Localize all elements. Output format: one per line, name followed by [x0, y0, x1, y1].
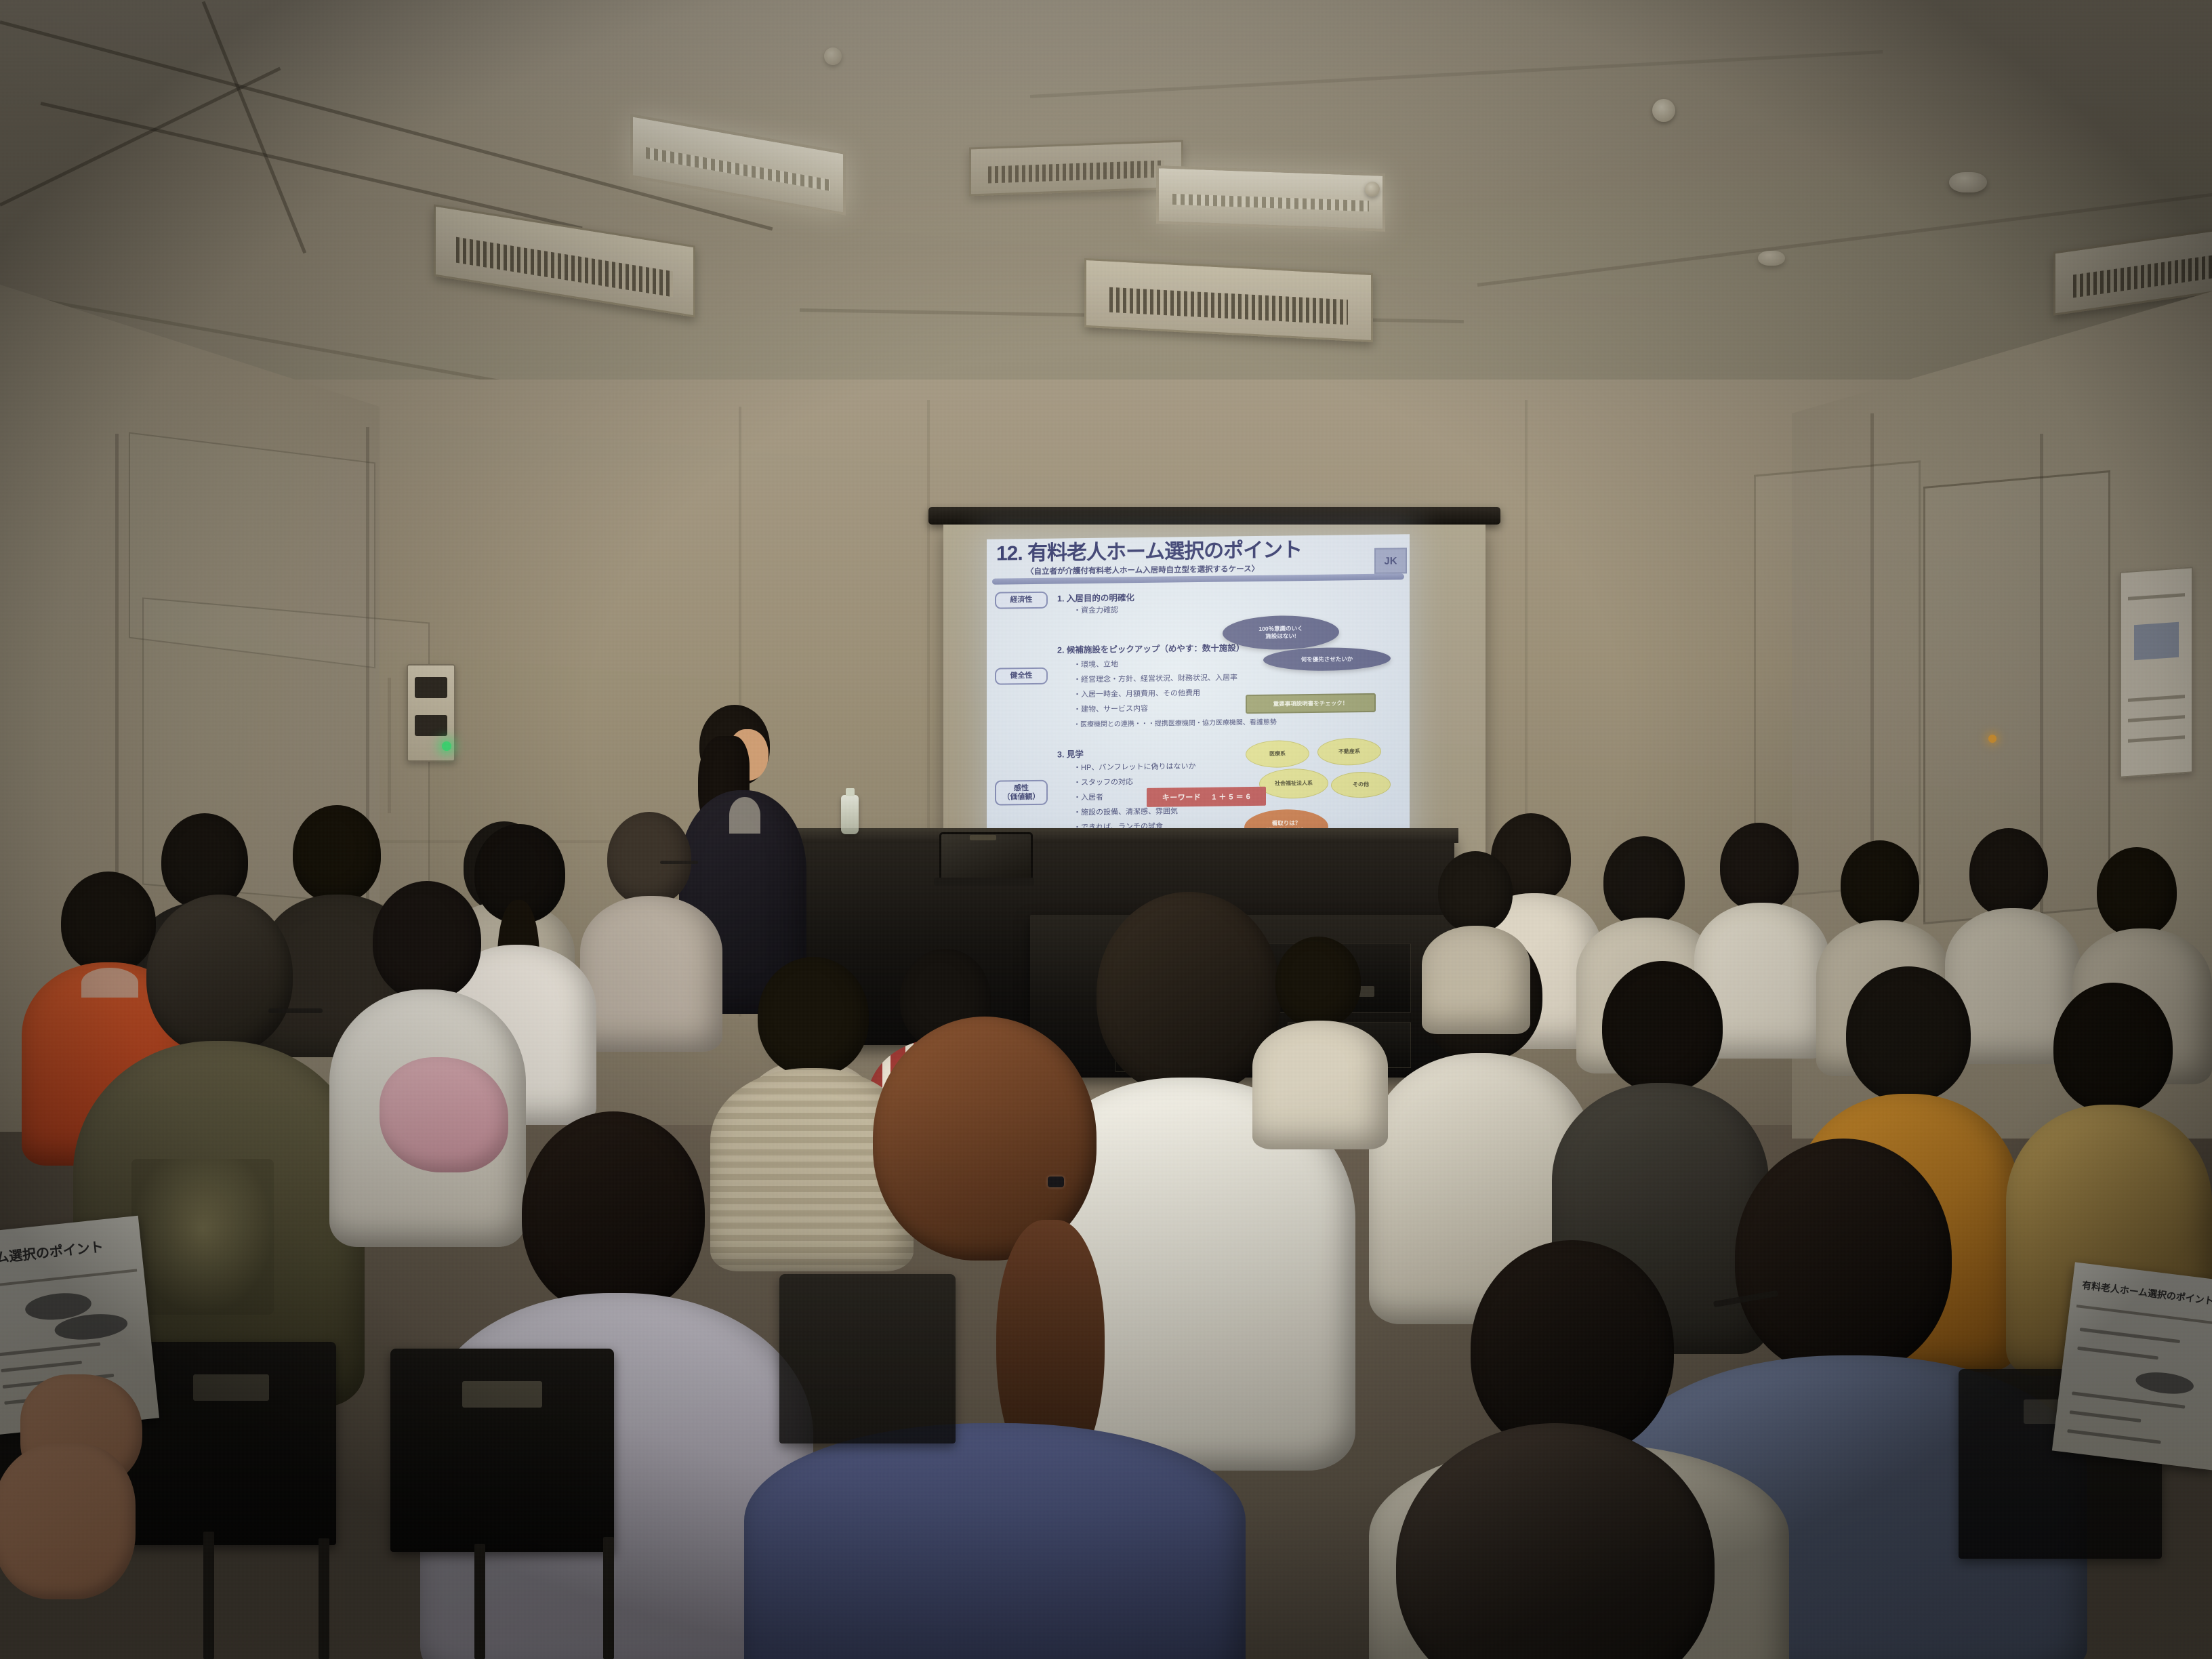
- slide-section-3-bullet-3: ・入居者: [1073, 792, 1103, 803]
- slide-callout-keyword-band: キーワード 1 ＋ 5 ＝ 6: [1147, 787, 1266, 807]
- laptop-webcam-icon: [970, 835, 997, 840]
- ac-vent-icon: [969, 140, 1183, 196]
- section-number: 3.: [1057, 750, 1064, 759]
- head: [146, 895, 293, 1054]
- panel-light-icon: [1156, 165, 1385, 232]
- chair-leg: [203, 1532, 214, 1659]
- control-switch[interactable]: [415, 715, 448, 736]
- water-bottle[interactable]: [841, 795, 859, 834]
- glasses-icon: [268, 1008, 323, 1013]
- head: [1275, 937, 1361, 1027]
- keyword-label: キーワード: [1162, 792, 1202, 803]
- chair-handle: [462, 1381, 543, 1408]
- status-led-green-icon: [442, 741, 451, 751]
- wall-control-panel[interactable]: [407, 664, 455, 762]
- slide-section-2-bullet-1: ・環境、立地: [1073, 658, 1118, 670]
- control-switch[interactable]: [415, 677, 448, 698]
- slide-callout-navy-1: 100％意識のいく 施設はない!: [1223, 615, 1339, 650]
- head: [1438, 851, 1513, 933]
- callout-line1: 100％意識のいく: [1258, 625, 1303, 632]
- tshirt-graphic: [131, 1159, 274, 1315]
- handout-right[interactable]: 有料老人ホーム選択のポイント: [2052, 1262, 2212, 1470]
- slide-callout-yellow-4: その他: [1331, 772, 1391, 798]
- folding-chair[interactable]: [390, 1349, 614, 1552]
- audience-member: [580, 812, 722, 1036]
- head: [1602, 961, 1723, 1092]
- slide-section-3-bullet-1: ・HP、パンフレットに偽りはないか: [1073, 760, 1196, 773]
- handout-title: ーム選択のポイント: [0, 1233, 135, 1268]
- slide-section-2-bullet-3: ・入居一時金、月額費用、その他費用: [1073, 687, 1200, 699]
- section-number: 2.: [1057, 645, 1064, 655]
- presenter-blouse-collar: [729, 797, 760, 834]
- category-label-line2: （価値観）: [996, 792, 1046, 802]
- head: [522, 1111, 705, 1315]
- folding-chair[interactable]: [126, 1342, 336, 1545]
- torso: [580, 896, 722, 1052]
- presenter-laptop[interactable]: [939, 832, 1029, 897]
- folding-chair[interactable]: [779, 1274, 956, 1443]
- section-heading: 入居目的の明確化: [1067, 593, 1134, 603]
- head: [2097, 847, 2177, 937]
- category-label-line1: 経済性: [996, 596, 1046, 605]
- ceiling-light-falloff: [0, 0, 2212, 434]
- audience-member: [1422, 851, 1530, 1014]
- head: [1720, 823, 1799, 911]
- sprinkler-head-icon: [1365, 182, 1380, 197]
- door-indicator-icon: [1988, 735, 1996, 743]
- section-heading: 候補施設をピックアップ（めやす：数十施設）: [1067, 643, 1245, 655]
- wall-seam: [388, 678, 391, 813]
- callout-line2: 施設はない!: [1265, 632, 1296, 640]
- chair-leg: [319, 1538, 329, 1659]
- chair-leg: [474, 1544, 485, 1659]
- category-label-line1: 健全性: [996, 672, 1046, 681]
- chair-handle: [193, 1374, 269, 1401]
- seminar-room-scene: 12. 有料老人ホーム選択のポイント JK 〈自立者が介護付有料老人ホーム入居時…: [0, 0, 2212, 1659]
- slide-section-2-bullet-5: ・医療機関との連携・・・提携医療機関・協力医療機関、看護態勢: [1073, 716, 1277, 729]
- head: [1603, 836, 1685, 927]
- smoke-detector-icon: [1758, 251, 1785, 266]
- laptop-hinge: [934, 878, 1034, 886]
- slide-category-sensibility: 感性 （価値観）: [995, 780, 1048, 806]
- head: [607, 812, 691, 905]
- hair-clip-icon: [1048, 1176, 1064, 1187]
- head: [1841, 840, 1919, 928]
- slide-callout-olive-tag: 重要事項説明書をチェック！: [1246, 693, 1376, 714]
- audience-member-foreground: [1274, 1423, 1830, 1659]
- slide-section-3-bullet-4: ・施設の設備、清潔感、雰囲気: [1073, 805, 1178, 817]
- slide-callout-yellow-3: 社会福祉法人系: [1259, 769, 1328, 799]
- head: [2053, 983, 2173, 1113]
- slide-callout-navy-2: 何を優先させたいか: [1263, 647, 1391, 672]
- audience-member: [1252, 937, 1388, 1126]
- podium-table-top: [773, 828, 1458, 843]
- chair-leg: [603, 1537, 614, 1659]
- sprinkler-head-icon: [1652, 99, 1675, 122]
- keyword-formula: 1 ＋ 5 ＝ 6: [1212, 791, 1250, 802]
- section-heading: 見学: [1067, 750, 1084, 759]
- slide-title: 12. 有料老人ホーム選択のポイント: [996, 538, 1401, 565]
- glasses-icon: [660, 861, 698, 864]
- slide-category-soundness: 健全性: [995, 668, 1048, 685]
- slide-category-economy: 経済性: [995, 592, 1048, 609]
- slide-section-1-bullet-1: ・資金力確認: [1073, 604, 1118, 615]
- head: [1969, 828, 2048, 916]
- section-number: 1.: [1057, 594, 1064, 603]
- wall-poster: [2120, 567, 2193, 778]
- slide-section-3-number: 3. 見学: [1057, 747, 1084, 760]
- torso: [1252, 1021, 1388, 1149]
- bottle-cap: [846, 788, 855, 796]
- slide-logo: JK: [1374, 548, 1407, 574]
- callout-line1: 看取りは？: [1272, 819, 1301, 827]
- slide-callout-yellow-2: 不動産系: [1317, 738, 1381, 766]
- slide-section-3-bullet-2: ・スタッフの対応: [1073, 776, 1133, 787]
- slide-section-1-number: 1. 入居目的の明確化: [1057, 590, 1134, 604]
- torso-blue-blouse: [744, 1423, 1246, 1659]
- category-label-line1: 感性: [996, 784, 1046, 794]
- head: [373, 881, 481, 1000]
- handout-title: 有料老人ホーム選択のポイント: [2081, 1278, 2212, 1309]
- slide-section-2-bullet-2: ・経営理念・方針、経営状況、財務状況、入居率: [1073, 672, 1237, 684]
- forearm: [0, 1443, 136, 1599]
- head: [1396, 1423, 1715, 1659]
- slide-section-2-bullet-4: ・建物、サービス内容: [1073, 703, 1148, 714]
- torso: [1422, 926, 1530, 1034]
- slide-callout-yellow-1: 医療系: [1246, 740, 1309, 768]
- smoke-detector-icon: [1949, 172, 1987, 192]
- screen-roller-bar: [928, 507, 1500, 525]
- head: [1846, 966, 1971, 1102]
- sprinkler-head-icon: [824, 47, 842, 65]
- slide-section-2-number: 2. 候補施設をピックアップ（めやす：数十施設）: [1057, 640, 1244, 655]
